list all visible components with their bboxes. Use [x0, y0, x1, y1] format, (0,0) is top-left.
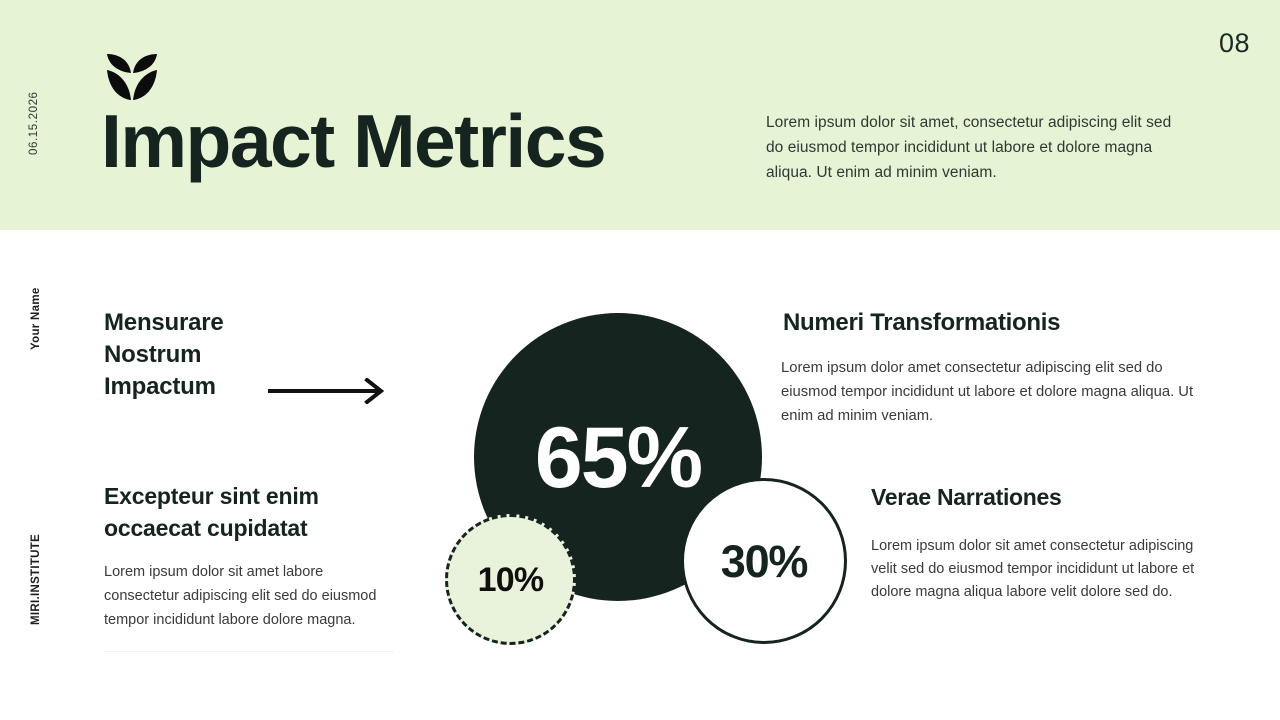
right-block-paragraph: Lorem ipsum dolor sit amet consectetur a… — [871, 535, 1196, 604]
right-block-heading: Verae Narrationes — [871, 482, 1196, 513]
institute-label: MIRI.INSTITUTE — [30, 534, 42, 625]
header-description: Lorem ipsum dolor sit amet, consectetur … — [766, 110, 1186, 185]
left-text-block: Excepteur sint enim occaecat cupidatat L… — [104, 480, 394, 632]
bubble-tertiary[interactable]: 10% — [445, 514, 576, 645]
right-text-block: Verae Narrationes Lorem ipsum dolor sit … — [871, 482, 1196, 604]
header-band: 08 Impact Metrics Lorem ipsum dolor sit … — [0, 0, 1280, 230]
bubble-secondary-value: 30% — [721, 539, 807, 584]
bubble-secondary[interactable]: 30% — [681, 478, 847, 644]
right-heading: Numeri Transformationis — [783, 307, 1203, 339]
left-block-paragraph: Lorem ipsum dolor sit amet labore consec… — [104, 560, 394, 632]
left-lead-heading: Mensurare Nostrum Impactum — [104, 307, 284, 403]
page-title: Impact Metrics — [101, 99, 605, 183]
author-label: Your Name — [30, 287, 42, 350]
bubble-tertiary-value: 10% — [478, 563, 544, 597]
page-number: 08 — [1219, 28, 1250, 59]
slide-canvas: 08 Impact Metrics Lorem ipsum dolor sit … — [0, 0, 1280, 720]
left-block-heading: Excepteur sint enim occaecat cupidatat — [104, 480, 394, 544]
left-divider — [104, 651, 394, 652]
date-label: 06.15.2026 — [28, 91, 40, 155]
leaf-sprout-icon — [104, 42, 160, 104]
right-paragraph: Lorem ipsum dolor amet consectetur adipi… — [781, 356, 1195, 428]
arrow-right-icon — [268, 378, 386, 404]
bubble-primary-value: 65% — [535, 415, 701, 501]
